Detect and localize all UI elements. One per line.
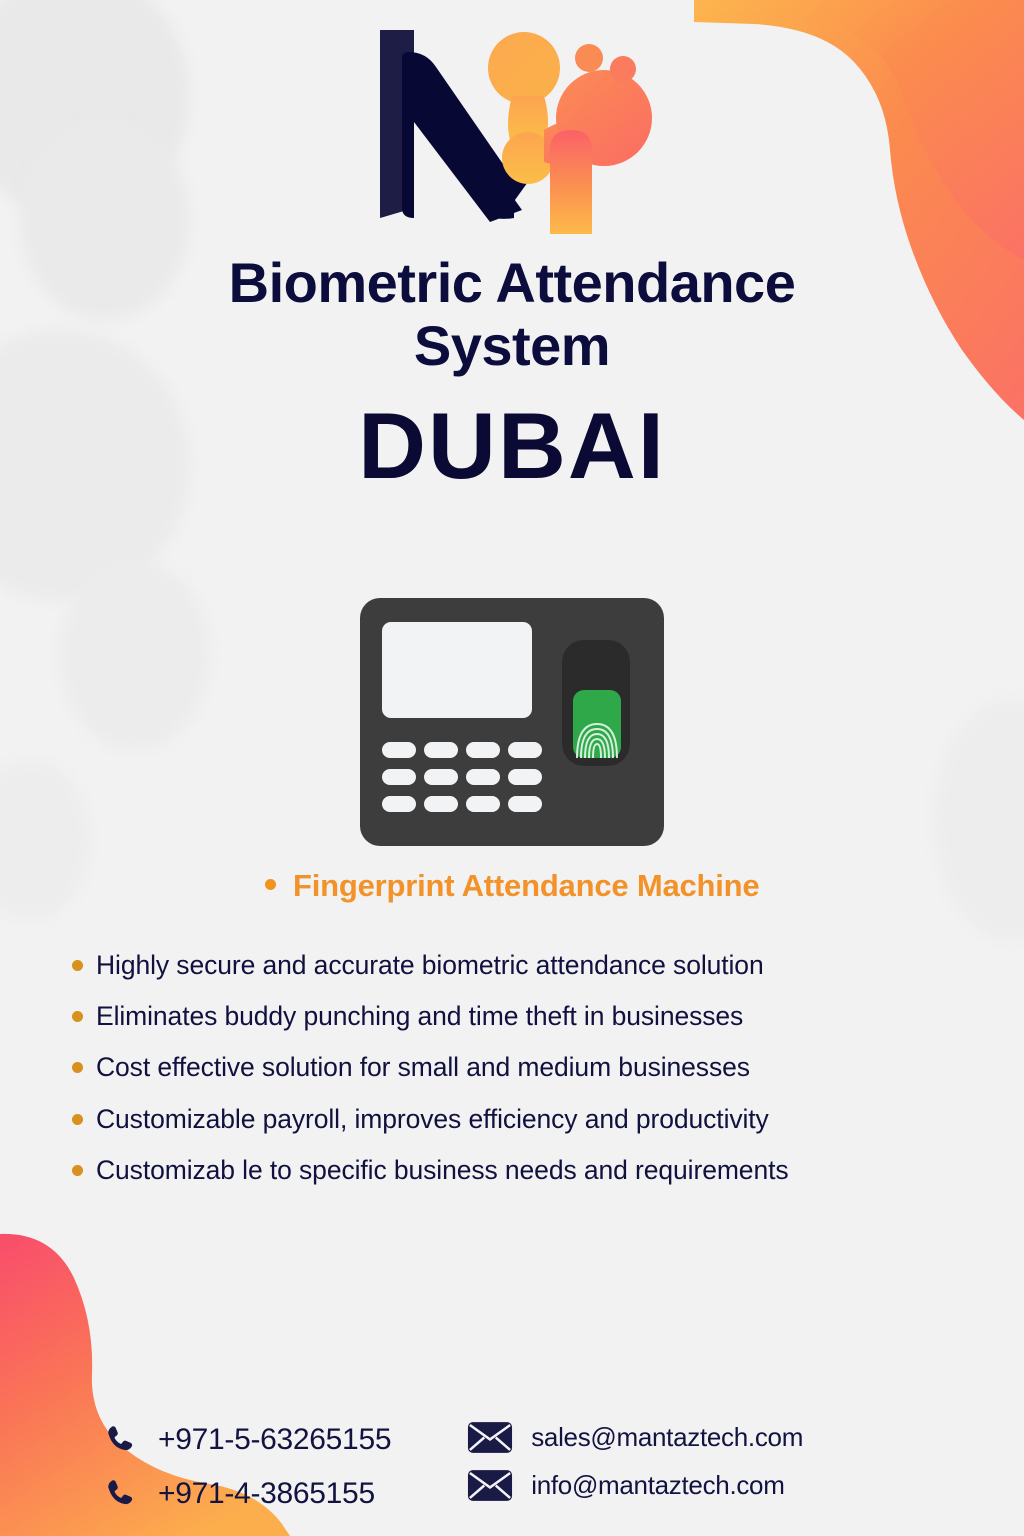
feature-text: Customizable payroll, improves efficienc… — [96, 1102, 769, 1137]
page-title-line-1: Biometric Attendance — [229, 251, 796, 314]
bullet-dot-icon — [72, 1114, 83, 1125]
bullet-dot-icon — [72, 1011, 83, 1022]
email-value: sales@mantaztech.com — [531, 1422, 803, 1453]
logo-container — [0, 22, 1024, 240]
email-row[interactable]: info@mantaztech.com — [467, 1468, 803, 1502]
product-name-label: Fingerprint Attendance Machine — [293, 868, 760, 903]
device-screen — [382, 622, 532, 718]
phone-icon — [100, 1474, 140, 1514]
list-item: Highly secure and accurate biometric att… — [72, 948, 1012, 983]
list-item: Customizable payroll, improves efficienc… — [72, 1102, 1012, 1137]
phone-value: +971-5-63265155 — [158, 1423, 391, 1457]
envelope-icon — [467, 1468, 513, 1502]
email-column: sales@mantaztech.com info@mantaztech.com — [467, 1420, 803, 1514]
mantaztech-logo — [362, 22, 662, 240]
page-title: Biometric Attendance System — [0, 252, 1024, 377]
phone-row[interactable]: +971-4-3865155 — [100, 1474, 391, 1514]
bullet-dot-icon — [72, 960, 83, 971]
email-value: info@mantaztech.com — [531, 1470, 784, 1501]
envelope-icon — [467, 1420, 513, 1454]
phone-row[interactable]: +971-5-63265155 — [100, 1420, 391, 1460]
phone-value: +971-4-3865155 — [158, 1477, 375, 1511]
phone-column: +971-5-63265155 +971-4-3865155 — [100, 1420, 391, 1514]
contact-section: +971-5-63265155 +971-4-3865155 sales@man… — [100, 1420, 984, 1514]
list-item: Customizab le to specific business needs… — [72, 1153, 1012, 1188]
phone-icon — [100, 1420, 140, 1460]
feature-text: Highly secure and accurate biometric att… — [96, 948, 764, 983]
feature-text: Customizab le to specific business needs… — [96, 1153, 789, 1188]
product-name-row: Fingerprint Attendance Machine — [0, 868, 1024, 904]
list-item: Cost effective solution for small and me… — [72, 1050, 1012, 1085]
feature-text: Eliminates buddy punching and time theft… — [96, 999, 743, 1034]
bullet-dot-icon — [265, 879, 276, 890]
page-title-line-2: System — [414, 314, 610, 377]
city-heading: DUBAI — [0, 399, 1024, 493]
email-row[interactable]: sales@mantaztech.com — [467, 1420, 803, 1454]
device-illustration-container — [0, 592, 1024, 850]
list-item: Eliminates buddy punching and time theft… — [72, 999, 1012, 1034]
feature-list: Highly secure and accurate biometric att… — [72, 948, 1012, 1204]
header-block: Biometric Attendance System DUBAI — [0, 252, 1024, 493]
bullet-dot-icon — [72, 1062, 83, 1073]
biometric-attendance-device — [356, 592, 668, 850]
bullet-dot-icon — [72, 1165, 83, 1176]
feature-text: Cost effective solution for small and me… — [96, 1050, 750, 1085]
